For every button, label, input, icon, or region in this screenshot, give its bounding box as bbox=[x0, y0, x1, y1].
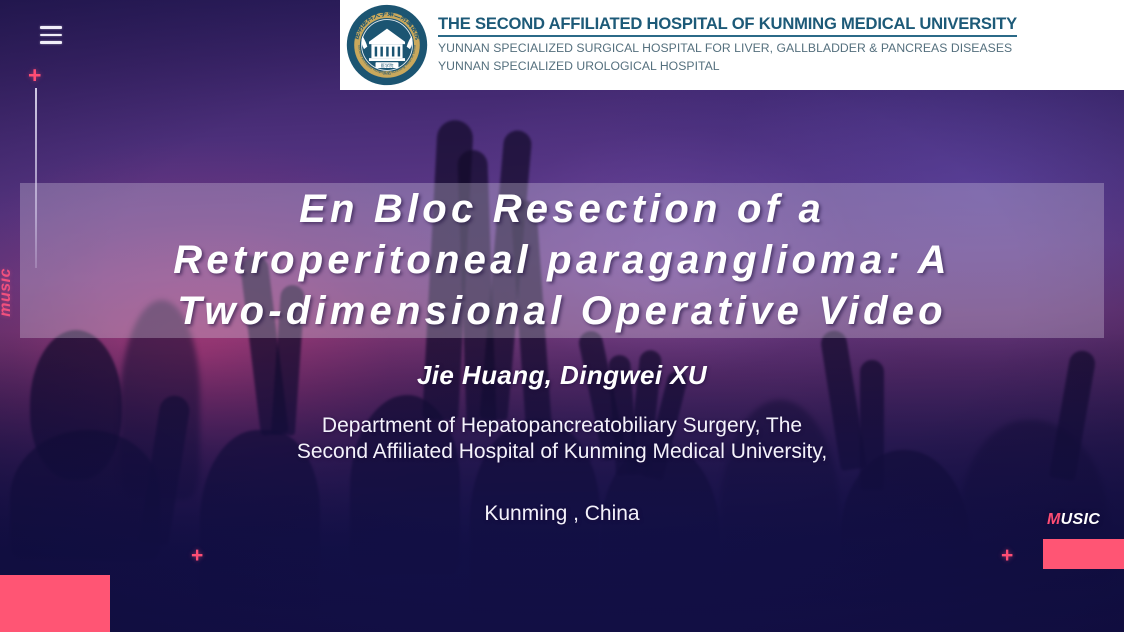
music-wordmark: MUSIC bbox=[1047, 511, 1100, 529]
plus-icon: + bbox=[1001, 545, 1013, 566]
slide-title: En Bloc Resection of a Retroperitoneal p… bbox=[20, 183, 1104, 338]
title-line-2: Retroperitoneal paraganglioma: A bbox=[173, 235, 950, 286]
hamburger-menu-icon[interactable] bbox=[40, 26, 62, 44]
hospital-name: THE SECOND AFFILIATED HOSPITAL OF KUNMIN… bbox=[438, 14, 1017, 37]
title-line-3: Two-dimensional Operative Video bbox=[177, 286, 947, 337]
hospital-seal-icon: 医学院 1952 昆明医科大学第二附属医院 The Second Affilia… bbox=[346, 4, 428, 86]
hospital-subtitle-1: YUNNAN SPECIALIZED SURGICAL HOSPITAL FOR… bbox=[438, 40, 1124, 58]
affiliation: Department of Hepatopancreatobiliary Sur… bbox=[0, 413, 1124, 465]
affiliation-line-1: Department of Hepatopancreatobiliary Sur… bbox=[0, 413, 1124, 439]
city-country: Kunming , China bbox=[0, 502, 1124, 526]
hamburger-bar bbox=[40, 34, 62, 37]
plus-icon: + bbox=[191, 545, 203, 566]
rail-music-label: music bbox=[0, 268, 15, 317]
music-wordmark-initial: M bbox=[1047, 511, 1061, 528]
title-line-1: En Bloc Resection of a bbox=[299, 184, 825, 235]
presentation-slide: 医学院 1952 昆明医科大学第二附属医院 The Second Affilia… bbox=[0, 0, 1124, 632]
hamburger-bar bbox=[40, 41, 62, 44]
hospital-header-banner: 医学院 1952 昆明医科大学第二附属医院 The Second Affilia… bbox=[340, 0, 1124, 90]
affiliation-line-2: Second Affiliated Hospital of Kunming Me… bbox=[0, 439, 1124, 465]
music-wordmark-rest: USIC bbox=[1061, 511, 1100, 528]
hospital-subtitle-2: YUNNAN SPECIALIZED UROLOGICAL HOSPITAL bbox=[438, 58, 1124, 76]
plus-icon: + bbox=[28, 64, 41, 87]
decor-pink-block-bottom-left bbox=[0, 575, 110, 632]
hamburger-bar bbox=[40, 26, 62, 29]
author-names: Jie Huang, Dingwei XU bbox=[0, 360, 1124, 391]
hospital-seal-logo: 医学院 1952 昆明医科大学第二附属医院 The Second Affilia… bbox=[346, 4, 428, 86]
decor-pink-block-bottom-right bbox=[1043, 539, 1124, 569]
hospital-header-text: THE SECOND AFFILIATED HOSPITAL OF KUNMIN… bbox=[438, 14, 1124, 75]
vertical-rail-line bbox=[35, 88, 37, 268]
